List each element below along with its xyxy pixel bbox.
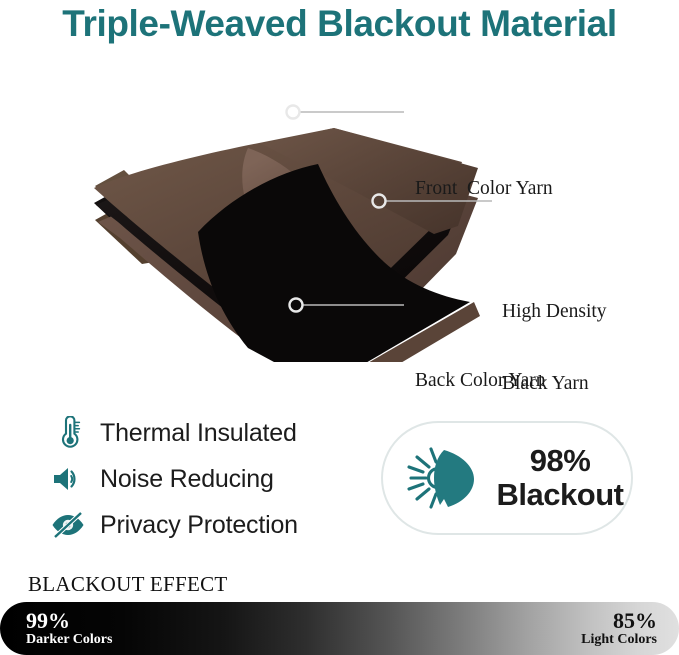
page-title: Triple-Weaved Blackout Material (0, 2, 679, 46)
bar-left-caption: Darker Colors (26, 633, 112, 648)
badge-word: Blackout (497, 477, 624, 512)
label-back-color-yarn: Back Color Yarn (415, 369, 546, 393)
label-line-1: High Density (502, 300, 607, 324)
sun-blocked-icon (397, 442, 483, 514)
feature-label: Privacy Protection (100, 511, 298, 540)
thermometer-icon (48, 413, 88, 453)
feature-noise-reducing: Noise Reducing (48, 456, 368, 502)
label-front-color-yarn: Front Color Yarn (415, 177, 553, 201)
feature-thermal-insulated: Thermal Insulated (48, 410, 368, 456)
blackout-badge: 98% Blackout (381, 421, 633, 535)
bar-right-percent: 85% (581, 609, 657, 632)
blackout-effect-heading: BLACKOUT EFFECT (28, 572, 228, 597)
bar-right-caption: Light Colors (581, 633, 657, 648)
label-high-density-black-yarn: High Density Black Yarn (502, 252, 607, 444)
bar-left-value: 99% Darker Colors (26, 609, 112, 648)
blackout-effect-gradient-bar: 99% Darker Colors 85% Light Colors (0, 602, 679, 655)
speaker-sound-icon (48, 459, 88, 499)
feature-label: Noise Reducing (100, 465, 274, 494)
bar-left-percent: 99% (26, 609, 112, 632)
badge-text: 98% Blackout (489, 444, 631, 512)
feature-label: Thermal Insulated (100, 419, 297, 448)
bar-right-value: 85% Light Colors (581, 609, 657, 648)
fabric-layers-diagram: Front Color Yarn High Density Black Yarn… (0, 72, 679, 362)
feature-privacy-protection: Privacy Protection (48, 502, 368, 548)
feature-list: Thermal Insulated Noise Reducing Privacy… (48, 410, 368, 548)
badge-percent: 98% (530, 443, 591, 478)
eye-slash-icon (48, 505, 88, 545)
